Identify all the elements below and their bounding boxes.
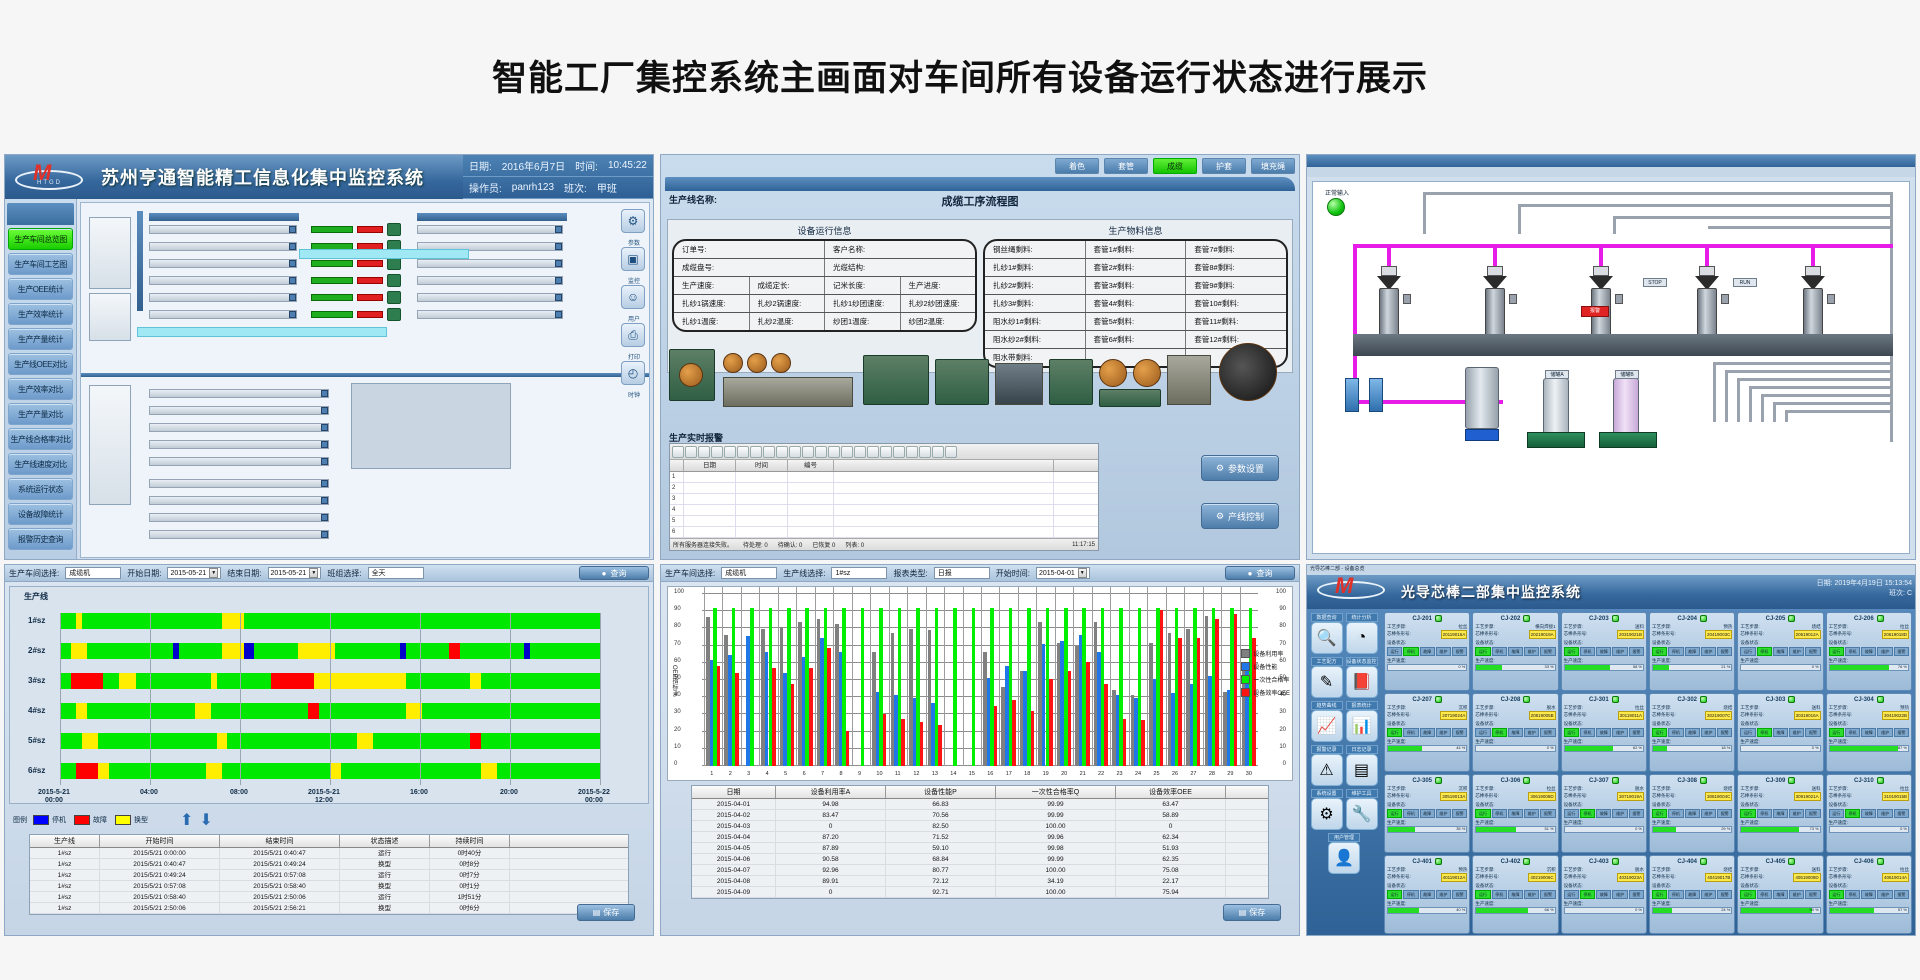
toolbar-icon-5[interactable] — [737, 446, 749, 458]
gantt-segment[interactable] — [481, 763, 497, 779]
workshop-label: 生产车间选择: — [665, 568, 715, 579]
device-card-CJ-201[interactable]: CJ-201工艺步骤:拉丝芯棒条形号:20119016A设备状态:运行停机故障维… — [1384, 612, 1470, 691]
wrench-icon[interactable]: 🔧 — [1346, 798, 1378, 830]
scroll-down-icon[interactable]: ⬇ — [199, 810, 212, 830]
toolbar-icon-1[interactable] — [685, 446, 697, 458]
gantt-segment[interactable] — [60, 613, 76, 629]
step-value: 拉丝 — [1900, 866, 1909, 873]
table-row[interactable]: 2015-04-09092.71100.0075.94 — [692, 887, 1268, 898]
gantt-segment[interactable] — [487, 613, 573, 629]
x-tick: 8 — [840, 771, 843, 777]
highlight-band — [137, 327, 387, 337]
table-cell: 2015-04-06 — [692, 854, 776, 864]
device-card-CJ-206[interactable]: CJ-206工艺步骤:拉丝芯棒条形号:20619018D设备状态:运行停机故障维… — [1826, 612, 1912, 691]
gantt-query-bar[interactable]: 生产车间选择: 成缆机 开始日期: 2015-05-21 ▼ 结束日期: 201… — [5, 565, 653, 582]
search-icon[interactable]: 🔍 — [1311, 622, 1343, 654]
toolbar-icon-13[interactable] — [841, 446, 853, 458]
gantt-segment[interactable] — [330, 763, 341, 779]
gantt-segment[interactable] — [244, 643, 255, 659]
tank-tag: 储罐A — [1545, 370, 1569, 379]
gantt-segment[interactable] — [373, 733, 470, 749]
param-settings-button[interactable]: ⚙ 参数设置 — [1201, 455, 1279, 481]
table-cell: 0 — [776, 887, 886, 897]
status-detail-table[interactable]: 生产线开始时间结束时间状态描述持续时间 1#sz2015/5/21 0:00:0… — [29, 834, 629, 915]
gantt-segment[interactable] — [179, 643, 222, 659]
production-line-graphic[interactable] — [149, 513, 329, 522]
gantt-segment[interactable] — [222, 763, 330, 779]
gantt-segment[interactable] — [76, 763, 98, 779]
query-button[interactable]: ● 查询 — [579, 566, 649, 580]
bar-设备效率OEE-11[interactable] — [901, 719, 905, 766]
alarm-row[interactable]: 5 — [670, 516, 1098, 527]
table-row[interactable]: 1#sz2015/5/21 0:57:082015/5/21 0:58:40换型… — [30, 881, 628, 892]
alarm-row[interactable]: 6 — [670, 527, 1098, 538]
bar-一次性合格率-9[interactable] — [861, 608, 865, 766]
panel6-tool-sidebar[interactable]: 数据查询🔍统计分析◔工艺配方✎设备状态监控📕趋势曲线📈报表统计📊报警记录⚠日志记… — [1307, 609, 1381, 936]
state-chip-停机: 停机 — [1492, 728, 1507, 737]
y-tick-left: 70 — [674, 641, 681, 647]
y-tick-left: 20 — [674, 727, 681, 733]
production-line-graphic[interactable] — [149, 310, 297, 319]
pipe-grey — [1613, 216, 1893, 219]
barcode-label: 芯棒条形号: — [1475, 873, 1499, 882]
sidebar-item-5[interactable]: 生产线OEE对比 — [8, 353, 73, 375]
production-line-graphic[interactable] — [149, 530, 329, 539]
book-icon[interactable]: 📕 — [1346, 666, 1378, 698]
device-card-CJ-204[interactable]: CJ-204工艺步骤:预热芯棒条形号:20419003C设备状态:运行停机故障维… — [1649, 612, 1735, 691]
process-tab-bar[interactable]: 着色套管成缆护套填充绳 — [1055, 158, 1295, 174]
valve-icon[interactable] — [1699, 266, 1715, 276]
gantt-segment[interactable] — [98, 733, 217, 749]
valve-icon[interactable] — [1487, 266, 1503, 276]
device-card-CJ-309[interactable]: CJ-309工艺步骤:送料芯棒条形号:30919021A设备状态:运行停机故障维… — [1737, 774, 1823, 853]
gantt-segment[interactable] — [335, 643, 400, 659]
recipe-icon[interactable]: ✎ — [1311, 666, 1343, 698]
toolbar-icon-10[interactable] — [802, 446, 814, 458]
table-row[interactable]: 2015-04-0283.4770.5699.9958.89 — [692, 810, 1268, 821]
bar-设备效率OEE-24[interactable] — [1141, 720, 1145, 766]
bar-设备效率OEE-6[interactable] — [809, 668, 813, 766]
workshop-input[interactable]: 成缆机 — [721, 567, 777, 579]
toolbar-icon-9[interactable] — [789, 446, 801, 458]
gantt-segment[interactable] — [357, 733, 373, 749]
chevron-down-icon[interactable]: ▼ — [1078, 568, 1087, 578]
device-card-CJ-401[interactable]: CJ-401工艺步骤:预热芯棒条形号:40119012A设备状态:运行停机故障维… — [1384, 855, 1470, 934]
device-card-CJ-203[interactable]: CJ-203工艺步骤:送料芯棒条形号:20319021B设备状态:运行停机故障维… — [1561, 612, 1647, 691]
state-chip-停机: 停机 — [1403, 809, 1418, 818]
production-line-graphic[interactable] — [417, 259, 563, 268]
production-line-graphic[interactable] — [149, 276, 297, 285]
clock-icon[interactable]: ◴ — [621, 361, 645, 385]
gantt-segment[interactable] — [319, 703, 405, 719]
sidebar-item-11[interactable]: 设备故障统计 — [8, 503, 73, 525]
production-line-graphic[interactable] — [149, 242, 297, 251]
alarm-row[interactable]: 4 — [670, 505, 1098, 516]
valve-icon[interactable] — [1593, 266, 1609, 276]
gantt-segment[interactable] — [206, 763, 222, 779]
device-header: CJ-307 — [1564, 777, 1644, 784]
gantt-segment[interactable] — [227, 733, 357, 749]
device-barcode-row: 芯棒条形号:30419022B — [1829, 711, 1909, 720]
gantt-segment[interactable] — [98, 763, 109, 779]
sidebar-item-4[interactable]: 生产产量统计 — [8, 328, 73, 350]
gantt-segment[interactable] — [60, 673, 71, 689]
gear-icon[interactable]: ⚙ — [1311, 798, 1343, 830]
table-row[interactable]: 1#sz2015/5/21 0:49:242015/5/21 0:57:08运行… — [30, 870, 628, 881]
production-line-graphic[interactable] — [149, 457, 329, 466]
device-card-CJ-301[interactable]: CJ-301工艺步骤:拉丝芯棒条形号:30119011A设备状态:运行停机故障维… — [1561, 693, 1647, 772]
gantt-segment[interactable] — [71, 673, 103, 689]
device-card-CJ-405[interactable]: CJ-405工艺步骤:送料芯棒条形号:40519009D设备状态:运行停机故障维… — [1737, 855, 1823, 934]
state-chip-停机: 停机 — [1580, 647, 1595, 656]
save-button[interactable]: ▤ 保存 — [577, 904, 635, 921]
legend-label-2: 一次性合格率 — [1253, 675, 1289, 684]
table-row[interactable]: 2015-04-0792.9680.77100.0075.08 — [692, 865, 1268, 876]
report-type-input[interactable]: 日报 — [934, 567, 990, 579]
sidebar-item-1[interactable]: 生产车间工艺图 — [8, 253, 73, 275]
table-row[interactable]: 1#sz2015/5/21 0:58:402015/5/21 2:50:06运行… — [30, 892, 628, 903]
toolbar-icon-12[interactable] — [828, 446, 840, 458]
monitor-icon[interactable]: ▣ — [621, 247, 645, 271]
start-time-select[interactable]: 2015-04-01 ▼ — [1036, 567, 1090, 579]
table-cell: 1#sz — [30, 903, 100, 913]
device-card-CJ-406[interactable]: CJ-406工艺步骤:拉丝芯棒条形号:40619014A设备状态:运行停机故障维… — [1826, 855, 1912, 934]
gantt-segment[interactable] — [60, 643, 71, 659]
alarm-row[interactable]: 2 — [670, 483, 1098, 494]
legend-swatch-0 — [33, 815, 49, 825]
step-value: 拉丝 — [1900, 785, 1909, 792]
bar-设备效率OEE-19[interactable] — [1049, 679, 1053, 766]
gantt-segment[interactable] — [573, 613, 600, 629]
sidebar-item-2[interactable]: 生产OEE统计 — [8, 278, 73, 300]
bar-设备效率OEE-10[interactable] — [883, 714, 887, 766]
gantt-segment[interactable] — [341, 763, 481, 779]
reactor-vessel[interactable] — [1803, 288, 1823, 336]
y-tick-left: 10 — [674, 744, 681, 750]
table-cell: 2015-04-03 — [692, 821, 776, 831]
toolbar-icon-20[interactable] — [932, 446, 944, 458]
gantt-segment[interactable] — [217, 673, 271, 689]
gantt-segment[interactable] — [71, 643, 87, 659]
gantt-segment[interactable] — [406, 643, 449, 659]
device-card-CJ-304[interactable]: CJ-304工艺步骤:预热芯棒条形号:30419022B设备状态:运行停机故障维… — [1826, 693, 1912, 772]
production-line-graphic[interactable] — [417, 225, 563, 234]
production-line-graphic[interactable] — [149, 225, 297, 234]
state-chip-报警: 报警 — [1452, 809, 1467, 818]
production-line-graphic[interactable] — [149, 496, 329, 505]
oee-bar-chart[interactable]: 0102030405060708090100 01020304050607080… — [667, 586, 1293, 781]
gantt-segment[interactable] — [470, 733, 481, 749]
toolbar-icon-3[interactable] — [711, 446, 723, 458]
start-date-select[interactable]: 2015-05-21 ▼ — [167, 567, 221, 579]
legend-label-0: 设备利用率 — [1253, 649, 1283, 658]
reactor-vessel[interactable] — [1697, 288, 1717, 336]
toolbar-icon-7[interactable] — [763, 446, 775, 458]
device-card-CJ-303[interactable]: CJ-303工艺步骤:送料芯棒条形号:30319016A设备状态:运行停机故障维… — [1737, 693, 1823, 772]
device-id: CJ-404 — [1677, 859, 1697, 865]
pid-canvas[interactable]: 正常输入 1#反应釜2#反应釜3#反应釜4#反应釜5#反应釜 — [1312, 181, 1910, 554]
category-separator — [1184, 587, 1185, 766]
production-line-graphic[interactable] — [149, 259, 297, 268]
bar-设备效率OEE-7[interactable] — [827, 648, 831, 767]
sidebar-item-10[interactable]: 系统运行状态 — [8, 478, 73, 500]
gantt-segment[interactable] — [422, 703, 530, 719]
production-line-graphic[interactable] — [149, 423, 329, 432]
gantt-segment[interactable] — [465, 613, 487, 629]
alarm-icon[interactable]: ⚠ — [1311, 754, 1343, 786]
log-icon[interactable]: ▤ — [1346, 754, 1378, 786]
alarm-row[interactable]: 1 — [670, 472, 1098, 483]
y-tick-right: 100 — [1276, 589, 1286, 595]
process-tab-1[interactable]: 套管 — [1104, 158, 1148, 174]
bar-设备效率OEE-13[interactable] — [938, 725, 942, 766]
bar-chart-icon[interactable]: 📊 — [1346, 710, 1378, 742]
gantt-segment[interactable] — [470, 673, 481, 689]
device-card-CJ-307[interactable]: CJ-307工艺步骤:脱水芯棒条形号:30719019A设备状态:运行停机故障维… — [1561, 774, 1647, 853]
toolbar-icon-17[interactable] — [893, 446, 905, 458]
gantt-segment[interactable] — [271, 673, 314, 689]
toolbar-icon-8[interactable] — [776, 446, 788, 458]
gantt-segment[interactable] — [308, 703, 319, 719]
device-card-CJ-202[interactable]: CJ-202工艺步骤:横向焊接1芯棒条形号:20219019A设备状态:运行停机… — [1472, 612, 1558, 691]
bar-设备效率OEE-4[interactable] — [772, 668, 776, 766]
gantt-segment[interactable] — [211, 703, 308, 719]
device-card-CJ-205[interactable]: CJ-205工艺步骤:烧结芯棒条形号:20519012A设备状态:运行停机故障维… — [1737, 612, 1823, 691]
toolbar-icon-14[interactable] — [854, 446, 866, 458]
alarm-grid-rows[interactable]: 123456 — [670, 472, 1098, 538]
gantt-segment[interactable] — [168, 613, 179, 629]
sidebar-item-0[interactable]: 生产车间总览图 — [8, 228, 73, 250]
toolbar-icon-2[interactable] — [698, 446, 710, 458]
bar-设备效率OEE-25[interactable] — [1160, 610, 1164, 766]
gantt-segment[interactable] — [76, 703, 87, 719]
gantt-segment[interactable] — [254, 643, 297, 659]
gantt-segment[interactable] — [82, 733, 98, 749]
query-button[interactable]: ● 查询 — [1225, 566, 1295, 580]
alarm-tag[interactable]: 报警 — [1581, 306, 1609, 317]
sidebar-item-7[interactable]: 生产产量对比 — [8, 403, 73, 425]
gantt-segment[interactable] — [60, 763, 76, 779]
table-row[interactable]: 2015-04-0889.9172.1234.1922.17 — [692, 876, 1268, 887]
bar-设备效率OEE-26[interactable] — [1178, 638, 1182, 766]
device-card-CJ-402[interactable]: CJ-402工艺步骤:沉积芯棒条形号:40219006C设备状态:运行停机故障维… — [1472, 855, 1558, 934]
gantt-segment[interactable] — [87, 703, 195, 719]
device-card-CJ-302[interactable]: CJ-302工艺步骤:烧结芯棒条形号:30219007C设备状态:运行停机故障维… — [1649, 693, 1735, 772]
device-card-CJ-208[interactable]: CJ-208工艺步骤:脱水芯棒条形号:20819005B设备状态:运行停机故障维… — [1472, 693, 1558, 772]
table-row[interactable]: 2015-04-0587.8959.1099.9851.93 — [692, 843, 1268, 854]
process-tab-3[interactable]: 护套 — [1202, 158, 1246, 174]
bar-设备效率OEE-1[interactable] — [717, 666, 721, 766]
table-cell: 66.83 — [886, 799, 996, 809]
gantt-segment[interactable] — [119, 673, 135, 689]
step-label: 工艺步骤: — [1829, 866, 1848, 873]
user-icon[interactable]: ☺ — [621, 285, 645, 309]
valve-icon[interactable] — [1381, 266, 1397, 276]
valve-icon[interactable] — [1805, 266, 1821, 276]
toolbar-icon-6[interactable] — [750, 446, 762, 458]
sidebar-item-9[interactable]: 生产线速度对比 — [8, 453, 73, 475]
status-label: 设备状态: — [1475, 639, 1494, 646]
table-row[interactable]: 2015-04-0690.5868.8499.9962.35 — [692, 854, 1268, 865]
line-control-button[interactable]: ⚙ 产线控制 — [1201, 503, 1279, 529]
process-tab-0[interactable]: 着色 — [1055, 158, 1099, 174]
workshop-layout-canvas[interactable]: ⚙参数▣监控☺用户⎙打印◴时钟 — [80, 202, 650, 558]
trend-icon[interactable]: 📈 — [1311, 710, 1343, 742]
gantt-segment[interactable] — [103, 673, 119, 689]
chevron-down-icon[interactable]: ▼ — [209, 568, 218, 578]
device-card-grid[interactable]: CJ-201工艺步骤:拉丝芯棒条形号:20119016A设备状态:运行停机故障维… — [1381, 609, 1915, 936]
bar-设备效率OEE-20[interactable] — [1068, 671, 1072, 766]
alarm-row[interactable]: 3 — [670, 494, 1098, 505]
device-id: CJ-406 — [1854, 859, 1874, 865]
gantt-segment[interactable] — [389, 613, 465, 629]
process-tab-2[interactable]: 成缆 — [1153, 158, 1197, 174]
gantt-segment[interactable] — [449, 643, 460, 659]
gantt-segment[interactable] — [60, 703, 76, 719]
gantt-segment[interactable] — [179, 613, 222, 629]
device-card-CJ-403[interactable]: CJ-403工艺步骤:脱水芯棒条形号:40319023A设备状态:运行停机故障维… — [1561, 855, 1647, 934]
x-tick: 22 — [1098, 771, 1104, 777]
production-line-graphic[interactable] — [149, 479, 329, 488]
toolbar-icon-4[interactable] — [724, 446, 736, 458]
alarm-cell — [834, 505, 1054, 515]
bar-设备效率OEE-29[interactable] — [1234, 614, 1238, 766]
pie-chart-icon[interactable]: ◔ — [1346, 622, 1378, 654]
gantt-segment[interactable] — [60, 733, 82, 749]
device-card-CJ-404[interactable]: CJ-404工艺步骤:烧结芯棒条形号:40419017B设备状态:运行停机故障维… — [1649, 855, 1735, 934]
gantt-segment[interactable] — [406, 673, 471, 689]
line-input[interactable]: 1#sz — [831, 567, 887, 579]
end-date-select[interactable]: 2015-05-21 ▼ — [268, 567, 322, 579]
table-cell: 92.96 — [776, 865, 886, 875]
gantt-segment[interactable] — [530, 643, 600, 659]
process-tab-4[interactable]: 填充绳 — [1251, 158, 1295, 174]
table-row[interactable]: 2015-04-0487.2071.5299.9662.34 — [692, 832, 1268, 843]
sidebar-item-12[interactable]: 报警历史查询 — [8, 528, 73, 550]
toolbar-icon-0[interactable] — [672, 446, 684, 458]
bar-一次性合格率-14[interactable] — [953, 608, 957, 766]
gantt-segment[interactable] — [195, 703, 211, 719]
toolbar-icon-19[interactable] — [919, 446, 931, 458]
bar-设备效率OEE-23[interactable] — [1123, 719, 1127, 766]
gantt-segment[interactable] — [497, 763, 600, 779]
bar-设备效率OEE-22[interactable] — [1104, 684, 1108, 766]
toolbar-icon-11[interactable] — [815, 446, 827, 458]
device-card-CJ-305[interactable]: CJ-305工艺步骤:沉积芯棒条形号:30519013A设备状态:运行停机故障维… — [1384, 774, 1470, 853]
gantt-segment[interactable] — [136, 673, 212, 689]
production-line-graphic[interactable] — [417, 293, 563, 302]
table-row[interactable]: 1#sz2015/5/21 0:40:472015/5/21 0:49:24换型… — [30, 859, 628, 870]
table-row[interactable]: 2015-04-0194.9866.8399.9963.47 — [692, 799, 1268, 810]
legend-row-0: 设备利用率 — [1241, 649, 1290, 658]
alarm-grid[interactable]: 日期时间编号 123456 所有服务器连接失败。待处理: 0待确认: 0已恢复 … — [669, 443, 1099, 551]
gantt-segment[interactable] — [314, 673, 406, 689]
toolbar-icon-18[interactable] — [906, 446, 918, 458]
production-line-graphic[interactable] — [149, 293, 297, 302]
production-line-graphic[interactable] — [149, 440, 329, 449]
gantt-segment[interactable] — [244, 613, 374, 629]
gantt-segment[interactable] — [546, 673, 600, 689]
bar-一次性合格率-15[interactable] — [972, 608, 976, 766]
sidebar-item-3[interactable]: 生产效率统计 — [8, 303, 73, 325]
gantt-segment[interactable] — [481, 733, 600, 749]
bar-设备效率OEE-18[interactable] — [1031, 711, 1035, 766]
gantt-segment[interactable] — [87, 643, 173, 659]
progress-text: 18 % — [1721, 745, 1730, 750]
table-cell: 2015/5/21 0:00:00 — [100, 848, 220, 858]
toolbar-icon-21[interactable] — [945, 446, 957, 458]
alarm-toolbar[interactable] — [670, 444, 1098, 460]
category-separator — [1129, 587, 1130, 766]
production-line-graphic[interactable] — [149, 406, 329, 415]
barcode-label: 芯棒条形号: — [1475, 711, 1499, 720]
toolbar-icon-16[interactable] — [880, 446, 892, 458]
bar-设备效率OEE-16[interactable] — [994, 706, 998, 766]
table-row[interactable]: 1#sz2015/5/21 2:50:062015/5/21 2:56:21换型… — [30, 903, 628, 914]
bar-设备效率OEE-27[interactable] — [1197, 638, 1201, 766]
user-icon[interactable]: 👤 — [1328, 842, 1360, 874]
run-info-caption: 设备运行信息 — [672, 224, 977, 237]
reactor-vessel[interactable] — [1485, 288, 1505, 336]
production-line-graphic[interactable] — [149, 389, 329, 398]
gantt-segment[interactable] — [82, 613, 168, 629]
panel-workshop-overview: M HTGD 苏州亨通智能精工信息化集中监控系统 日期: 2016年6月7日 时… — [4, 154, 654, 560]
table-col-header: 设备效率OEE — [1116, 786, 1226, 798]
barcode-value: 40119012A — [1441, 873, 1468, 882]
gantt-segment[interactable] — [109, 763, 206, 779]
device-card-CJ-306[interactable]: CJ-306工艺步骤:拉丝芯棒条形号:30619008D设备状态:运行停机故障维… — [1472, 774, 1558, 853]
workshop-input[interactable]: 成缆机 — [65, 567, 121, 579]
bar-设备效率OEE-21[interactable] — [1086, 662, 1090, 766]
bar-设备效率OEE-5[interactable] — [791, 684, 795, 766]
gantt-chart[interactable]: 生产线 1#sz2#sz3#sz4#sz5#sz6#sz 2015-5-2100… — [9, 586, 649, 804]
production-line-graphic[interactable] — [417, 310, 563, 319]
save-button[interactable]: ▤ 保存 — [1223, 904, 1281, 921]
gear-icon[interactable]: ⚙ — [621, 209, 645, 233]
table-row[interactable]: 2015-04-03082.50100.000 — [692, 821, 1268, 832]
gantt-segment[interactable] — [460, 643, 525, 659]
toolbar-icon-15[interactable] — [867, 446, 879, 458]
bar-设备效率OEE-28[interactable] — [1215, 619, 1219, 766]
bar-设备效率OEE-2[interactable] — [735, 673, 739, 766]
device-card-CJ-207[interactable]: CJ-207工艺步骤:沉积芯棒条形号:20719024A设备状态:运行停机故障维… — [1384, 693, 1470, 772]
oee-query-bar[interactable]: 生产车间选择: 成缆机 生产线选择: 1#sz 报表类型: 日报 开始时间: 2… — [661, 565, 1299, 582]
device-step-row: 工艺步骤:拉丝 — [1387, 623, 1467, 630]
gantt-segment[interactable] — [530, 703, 600, 719]
device-card-CJ-310[interactable]: CJ-310工艺步骤:拉丝芯棒条形号:31019015B设备状态:运行停机故障维… — [1826, 774, 1912, 853]
table-row[interactable]: 1#sz2015/5/21 0:00:002015/5/21 0:40:47运行… — [30, 848, 628, 859]
shift-input[interactable]: 全天 — [368, 567, 424, 579]
spool-icon — [1133, 359, 1161, 387]
print-icon[interactable]: ⎙ — [621, 323, 645, 347]
oee-table[interactable]: 日期设备利用率A设备性能P一次性合格率Q设备效率OEE 2015-04-0194… — [691, 785, 1269, 899]
sidebar-item-6[interactable]: 生产效率对比 — [8, 378, 73, 400]
gantt-segment[interactable] — [481, 673, 546, 689]
gantt-segment[interactable] — [373, 613, 389, 629]
bar-设备效率OEE-17[interactable] — [1012, 700, 1016, 766]
device-card-CJ-308[interactable]: CJ-308工艺步骤:烧结芯棒条形号:30819004C设备状态:运行停机故障维… — [1649, 774, 1735, 853]
production-line-graphic[interactable] — [417, 276, 563, 285]
scroll-up-icon[interactable]: ⬆ — [180, 810, 193, 830]
gantt-segment[interactable] — [217, 733, 228, 749]
bar-一次性合格率-3[interactable] — [750, 608, 754, 766]
table-cell: 2015/5/21 2:56:21 — [220, 903, 340, 913]
sidebar-item-8[interactable]: 生产线合格率对比 — [8, 428, 73, 450]
reactor-vessel[interactable] — [1379, 288, 1399, 336]
bar-设备效率OEE-8[interactable] — [846, 731, 850, 766]
bar-设备效率OEE-12[interactable] — [920, 722, 924, 766]
chevron-down-icon[interactable]: ▼ — [309, 568, 318, 578]
